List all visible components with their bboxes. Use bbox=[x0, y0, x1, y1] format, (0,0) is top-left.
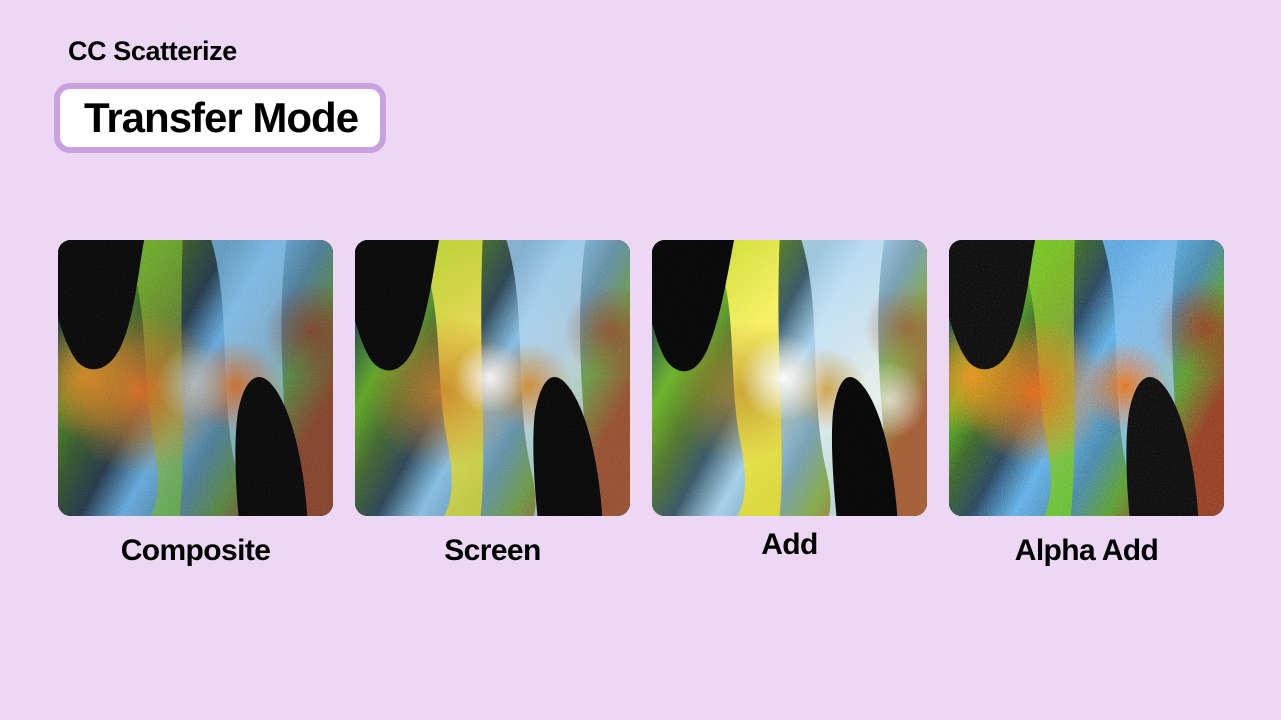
variant-label: Screen bbox=[444, 536, 540, 566]
variant-strip: Composite bbox=[58, 240, 1221, 566]
variant-thumbnail-alpha-add[interactable] bbox=[949, 240, 1224, 516]
variant-thumbnail-add[interactable] bbox=[652, 240, 927, 516]
variant-label: Alpha Add bbox=[1015, 536, 1158, 566]
property-label: Transfer Mode bbox=[84, 97, 358, 139]
variant-thumbnail-screen[interactable] bbox=[355, 240, 630, 516]
variant-cell[interactable]: Add bbox=[652, 240, 927, 566]
property-pill[interactable]: Transfer Mode bbox=[54, 83, 386, 153]
variant-cell[interactable]: Composite bbox=[58, 240, 333, 566]
variant-thumbnail-composite[interactable] bbox=[58, 240, 333, 516]
variant-label: Composite bbox=[121, 536, 271, 566]
variant-cell[interactable]: Alpha Add bbox=[949, 240, 1224, 566]
variant-label: Add bbox=[761, 530, 818, 560]
effect-name: CC Scatterize bbox=[68, 36, 237, 67]
variant-cell[interactable]: Screen bbox=[355, 240, 630, 566]
